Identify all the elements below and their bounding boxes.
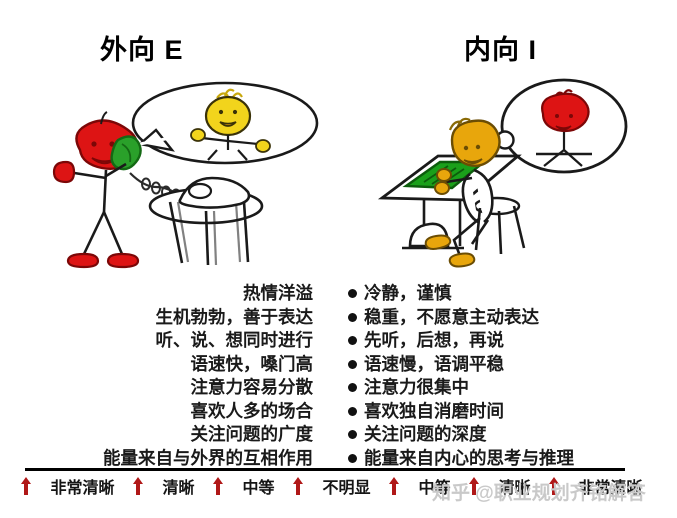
list-item: 关注问题的广度 — [8, 423, 313, 447]
list-item: 稳重，不愿意主动表达 — [348, 306, 668, 330]
trait-list-extrovert: 热情洋溢 生机勃勃，善于表达 听、说、想同时进行 语速快，嗓门高 注意力容易分散… — [8, 282, 313, 470]
bullet-icon — [348, 383, 357, 392]
list-item: 冷静，谨慎 — [348, 282, 668, 306]
scale-label: 非常清晰 — [561, 474, 660, 498]
list-item-label: 喜欢独自消磨时间 — [364, 400, 504, 424]
bullet-icon — [348, 430, 357, 439]
scale-label: 中等 — [225, 474, 292, 498]
list-item: 语速快，嗓门高 — [8, 353, 313, 377]
list-item-label: 语速慢，语调平稳 — [364, 353, 504, 377]
scale-label: 不明显 — [305, 474, 388, 498]
bullet-icon — [348, 289, 357, 298]
scale-bar: 非常清晰 清晰 中等 不明显 中等 清晰 非常清晰 — [20, 473, 660, 499]
bullet-icon — [348, 313, 357, 322]
list-item: 注意力很集中 — [348, 376, 668, 400]
trait-list-introvert: 冷静，谨慎 稳重，不愿意主动表达 先听，后想，再说 语速慢，语调平稳 注意力很集… — [348, 282, 668, 470]
list-item-label: 先听，后想，再说 — [364, 329, 504, 353]
list-item: 喜欢独自消磨时间 — [348, 400, 668, 424]
list-item: 语速慢，语调平稳 — [348, 353, 668, 377]
list-item: 热情洋溢 — [8, 282, 313, 306]
illustration-extrovert — [22, 78, 322, 268]
list-item-label: 能量来自内心的思考与推理 — [364, 447, 574, 471]
list-item: 生机勃勃，善于表达 — [8, 306, 313, 330]
page-title-extrovert: 外向 E — [100, 28, 184, 67]
bullet-icon — [348, 336, 357, 345]
scale-baseline — [25, 468, 625, 471]
scale-label: 非常清晰 — [33, 474, 132, 498]
list-item-label: 注意力很集中 — [364, 376, 469, 400]
bullet-icon — [348, 360, 357, 369]
scale-label: 清晰 — [145, 474, 212, 498]
page-title-introvert: 内向 I — [464, 28, 537, 67]
scale-arrow-icon — [468, 477, 481, 495]
list-item-label: 稳重，不愿意主动表达 — [364, 306, 539, 330]
list-item: 注意力容易分散 — [8, 376, 313, 400]
infographic-page: 外向 E 内向 I — [0, 0, 677, 518]
illustration-introvert — [368, 78, 658, 268]
speech-bubble — [133, 83, 317, 163]
list-item-label: 关注问题的深度 — [364, 423, 487, 447]
bullet-icon — [348, 454, 357, 463]
list-item: 关注问题的深度 — [348, 423, 668, 447]
scale-label: 清晰 — [481, 474, 548, 498]
scale-arrow-icon — [20, 477, 33, 495]
scale-arrow-icon — [292, 477, 305, 495]
bullet-icon — [348, 407, 357, 416]
list-item: 先听，后想，再说 — [348, 329, 668, 353]
scale-arrow-icon — [212, 477, 225, 495]
figure-introvert — [426, 119, 500, 267]
scale-arrow-icon — [548, 477, 561, 495]
telephone-base — [180, 178, 249, 208]
list-item-label: 冷静，谨慎 — [364, 282, 452, 306]
list-item: 能量来自内心的思考与推理 — [348, 447, 668, 471]
list-item: 能量来自与外界的互相作用 — [8, 447, 313, 471]
scale-arrow-icon — [388, 477, 401, 495]
list-item: 喜欢人多的场合 — [8, 400, 313, 424]
figure-extrovert — [54, 112, 141, 267]
scale-arrow-icon — [132, 477, 145, 495]
list-item: 听、说、想同时进行 — [8, 329, 313, 353]
scale-label: 中等 — [401, 474, 468, 498]
